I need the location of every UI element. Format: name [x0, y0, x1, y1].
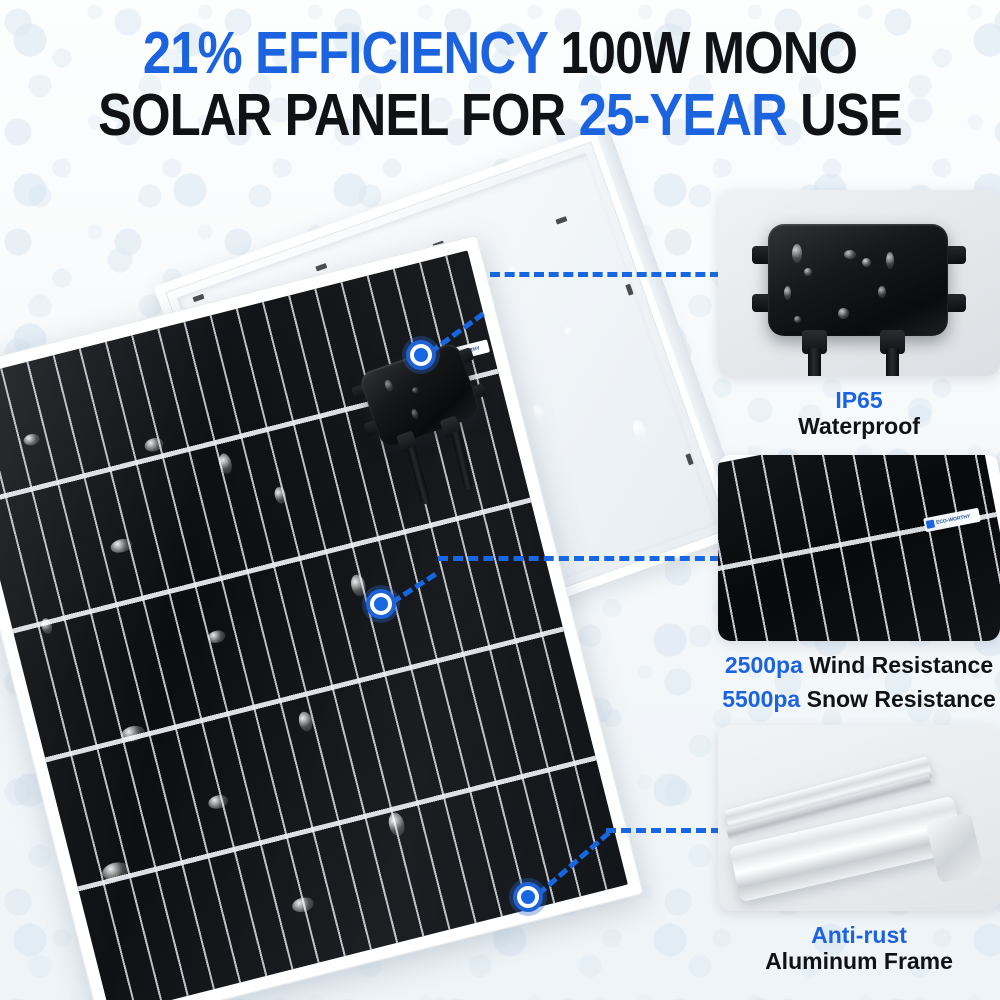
feature-frame-image [718, 725, 1000, 911]
headline-efficiency: 21% EFFICIENCY [143, 20, 561, 86]
feature-wind-resistance-row: 2500pa Wind Resistance [718, 652, 1000, 686]
marker-frame-edge[interactable] [509, 878, 547, 916]
marker-center-dot [414, 348, 428, 362]
feature-waterproof-image [718, 190, 1000, 376]
feature-waterproof-highlight: IP65 [718, 387, 1000, 413]
feature-waterproof: IP65 Waterproof [718, 190, 1000, 439]
feature-resistance: ECO-WORTHY 2500pa Wind Resistance 5500pa… [718, 455, 1000, 720]
headline-solar-panel-for: SOLAR PANEL FOR [98, 82, 579, 148]
solar-cable [808, 348, 821, 376]
feature-frame-highlight: Anti-rust [718, 922, 1000, 948]
page-title: 21% EFFICIENCY 100W MONO SOLAR PANEL FOR… [70, 22, 930, 146]
callout-line-resistance-horizontal [438, 556, 720, 561]
water-droplet [886, 252, 894, 269]
panel-corner-photo: ECO-WORTHY [718, 455, 1000, 641]
feature-waterproof-caption: IP65 Waterproof [718, 387, 1000, 439]
water-droplet [878, 286, 886, 298]
wind-resistance-value: 2500pa [725, 652, 803, 678]
wind-resistance-label: Wind Resistance [803, 652, 993, 678]
headline-25-year: 25-YEAR [579, 82, 787, 148]
marker-center-dot [374, 597, 388, 611]
junction-box-body [768, 224, 948, 336]
water-droplet [784, 286, 791, 300]
panel-corner-frame [718, 455, 1000, 641]
solar-cable [886, 348, 899, 376]
marker-center-dot [521, 890, 535, 904]
water-droplet [838, 308, 849, 319]
callout-line-frame-horizontal [606, 828, 721, 833]
headline-use: USE [787, 82, 902, 148]
feature-resistance-caption: 2500pa Wind Resistance 5500pa Snow Resis… [718, 652, 1000, 720]
water-droplet [844, 250, 856, 259]
water-droplet [792, 244, 802, 263]
cell-row-separators [718, 455, 1000, 641]
feature-frame: Anti-rust Aluminum Frame [718, 725, 1000, 974]
feature-resistance-image: ECO-WORTHY [718, 455, 1000, 641]
feature-waterproof-label: Waterproof [718, 413, 1000, 439]
headline-line-2: SOLAR PANEL FOR 25-YEAR USE [70, 84, 930, 146]
headline-wattage: 100W MONO [560, 20, 857, 86]
feature-snow-resistance-row: 5500pa Snow Resistance [718, 686, 1000, 720]
headline-line-1: 21% EFFICIENCY 100W MONO [70, 22, 930, 84]
product-infographic: 21% EFFICIENCY 100W MONO SOLAR PANEL FOR… [0, 0, 1000, 1000]
water-droplet [794, 316, 801, 323]
marker-panel-surface[interactable] [362, 585, 400, 623]
aluminum-frame-photo [718, 725, 1000, 911]
panel-corner-cells [718, 455, 1000, 641]
callout-line-waterproof-horizontal [490, 272, 720, 277]
marker-junction-box[interactable] [402, 336, 440, 374]
snow-resistance-label: Snow Resistance [800, 686, 996, 712]
junction-box-photo [718, 190, 1000, 376]
feature-frame-label: Aluminum Frame [718, 948, 1000, 974]
eco-worthy-logo-text: ECO-WORTHY [936, 513, 971, 526]
water-droplet [862, 258, 871, 267]
aluminum-rail-end-cap [926, 813, 985, 884]
snow-resistance-value: 5500pa [722, 686, 800, 712]
eco-worthy-logo-mark [926, 520, 935, 529]
water-droplet [804, 268, 812, 276]
feature-frame-caption: Anti-rust Aluminum Frame [718, 922, 1000, 974]
